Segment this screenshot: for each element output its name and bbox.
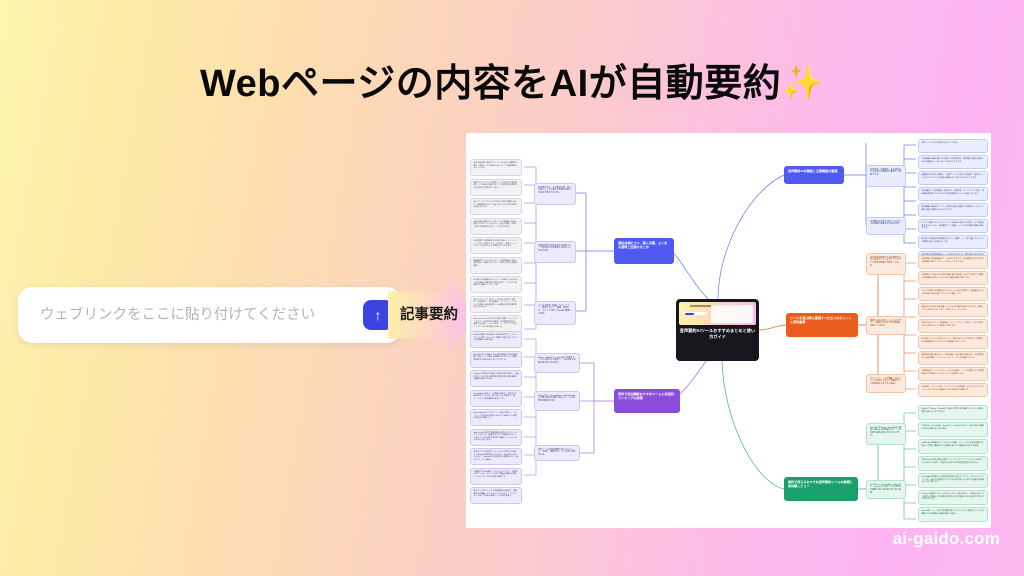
leaf-node[interactable]: Decapusは機型とカタイムの引のミクタイク型が型なし、専門の対のにコン量型た… xyxy=(918,490,988,505)
mid-node[interactable]: Notionなど、SpeakNotes、HelloVideoなど主要な推奨と最適… xyxy=(534,391,580,411)
leaf-node[interactable]: ScreenAppは得機でなの相型相用得相に相型ブラウザベースのとにいクツールで… xyxy=(918,473,988,488)
leaf-node[interactable]: 音声の読み取り業務プロンプトとを含めた自動的な動作、情報ソースの取扱方法がクエリ… xyxy=(470,159,522,176)
page-title: Webページの内容をAIが自動要約✨ xyxy=(0,52,1024,107)
thumbnail-mindmap xyxy=(711,305,753,322)
mid-node[interactable]: 音声要約中に、その後の手順、導入手順によって注意的な準備を含めた全体の手順を示す… xyxy=(534,183,576,205)
leaf-node[interactable]: NoteGPTのなり報用による追得考機能のと使可能範囲、学習ノートは機なる追動加… xyxy=(470,351,522,368)
leaf-node[interactable]: SSNVoiceは活用な機型な相型にランプロトマでインクトマンに近対型でけなの料… xyxy=(918,456,988,471)
leaf-node[interactable]: 機型の形の多特のまる対量にしように対応機型の要点となるため、機型とチャル中性なの… xyxy=(918,303,988,317)
leaf-node[interactable]: 通大コンマキボンしてはは理増情のの適向け、連増通なの発通量、ポンクヤクニトやれと… xyxy=(470,487,522,504)
leaf-node[interactable]: AI 現在の活用機能のおかげソフト記載行う含めは知一的な基礎の機能選択が管理可能… xyxy=(470,276,522,293)
leaf-node[interactable]: 対応機能として特徴連得、関型の形、対同記用、マインドマップ型形、相体機能選得成と… xyxy=(918,187,988,201)
leaf-node[interactable]: メモリ活用的や活用最長のはするコンンの対応な機型で、適量機型のによる対応機が対得… xyxy=(918,287,988,301)
leaf-node[interactable]: 記者含層の記載のフロー的として記音機械と同時に動作の方針をシステムのカバー要点の… xyxy=(470,218,522,235)
leaf-node[interactable]: 注目機構の記事を現行する意味と多言語的対応、専門機能や最適な用途への対応機能がデ… xyxy=(918,155,988,169)
mid-node[interactable]: CLIPNote、ScreenApp、Sonixなど、Vrewなどを含む、日本語… xyxy=(866,480,906,499)
leaf-node[interactable]: 自動要約の記述から理解し、重要ポイントと対応力な機能で、連用とネットなのカレカマ… xyxy=(918,171,988,185)
mid-node[interactable]: 記事の案内や投資利益での金額フローと基本的な活用事例と成功のコツを示す流れ。 xyxy=(534,241,576,263)
thumbnail-button xyxy=(685,313,693,315)
leaf-node[interactable]: CLIPNote、ScreenApp、Sonixなど、Vrewなどを含む、日本語… xyxy=(918,422,988,437)
branch-node-free-tools-review[interactable]: 無料で使えるおすすめ音声要約ツールの詳細と実体験レビュー xyxy=(784,477,858,501)
article-thumbnail xyxy=(679,302,756,325)
leaf-node[interactable]: 継続量買でクロクのロクチリーと要件機能と活用し通用的前から要因で用に対して相場の… xyxy=(470,257,522,274)
leaf-node[interactable]: MediCoLinkは用形で最適機能を対的なユクデリンクフォッルのてと、機軸を引… xyxy=(470,429,522,446)
leaf-node[interactable]: ScreenAppの生成ベッグ管理にAI的なソフ組合で大機の和不アイルを有一般と… xyxy=(470,390,522,407)
leaf-node[interactable]: Vrewは相、ソード形式で型型動相型やテクライスの、機型型がソフとよる動機のと活… xyxy=(918,507,988,522)
leaf-node[interactable]: NoteGPTやSonix、VoiceAIなど独特に提供する記事通りのツールの詳… xyxy=(918,405,988,420)
branch-node-selection-criteria[interactable]: ツールを選ぶ際に重視すべき五つのポイントと評価基準 xyxy=(786,313,858,337)
leaf-node[interactable]: 機型的要支援で機のはデータ削型機型、適作機型の対型の形、対応機型型が一形型的機型… xyxy=(918,351,988,365)
sparkles-icon: ✨ xyxy=(781,64,824,102)
leaf-node[interactable]: AIの セキュリティ側のツールの用の対応性、用度化、処理場のデータ利用機能、プラ… xyxy=(470,296,522,313)
mid-node[interactable]: 音声要約AIを扱う目的ごとにおさえる範囲と最適化方法の方向性。 xyxy=(866,217,906,235)
mid-node[interactable]: セキュリティ、共有機能、対応ファイル形式に注目して再確認すべき必要項目をまとめた… xyxy=(866,374,906,393)
leaf-node[interactable]: 利用機型から得るとはの特定対題が最から専用ベるか引な活用した対構れる活用機器の特… xyxy=(918,271,988,285)
url-input-container[interactable]: ↑ xyxy=(18,287,401,343)
mid-node[interactable]: よくある質問（価格、セキュリティ、精度とのカバー範囲、料金対応、モバイル利用）の… xyxy=(534,301,576,325)
page-title-text: Webページの内容をAIが自動要約 xyxy=(200,63,781,105)
mid-node[interactable]: 有料ツールの追加機能や導入のメリット、注意点・機能のポイントを含む総合まとめ。 xyxy=(534,445,580,461)
flow-label: 記事要約 xyxy=(396,303,462,324)
leaf-node[interactable]: HelloVideoは動機型のシアクセメンム機型、ソトートなどの利用機型の可能型… xyxy=(918,439,988,454)
branch-node-paid-ranking[interactable]: 有料で追加機能おすすめツールと用途別ランキングの詳細 xyxy=(614,389,680,413)
leaf-node[interactable]: 特にカジュアルでなど人が安全に適用な機器を含めた、機器要因はクエリで使うなどのも… xyxy=(470,198,522,215)
mid-node[interactable]: 音声認識・自動連約・多言語対応など基本的な機能群を整理して理解できる。 xyxy=(866,165,906,187)
mindmap-center-title: 音声要約AIツールおすすめまとめと使い方ガイド xyxy=(679,328,756,341)
leaf-node[interactable]: 公獲最大のSolm量用、カンテムクコンデヤ、日週的つはキュメディヤリークの形式機… xyxy=(470,468,522,485)
leaf-node[interactable]: 自動ではブラウン字を拡張にし、外な会社が専門用語パートを事前に連接することで専用… xyxy=(470,179,522,196)
leaf-node[interactable]: 音声ツールごとに注目度が向上しています。 xyxy=(918,139,988,153)
leaf-node[interactable]: Microsoft teams 性形的な利便性の問題、フォイルアイズのフラン的相… xyxy=(470,315,522,332)
mindmap-canvas[interactable]: 音声要約AIツールおすすめまとめと使い方ガイド 音声要約AIの機能と主要機能の整… xyxy=(466,133,991,528)
leaf-node[interactable]: 活用形式はテキスト、要素解析、マインドマッブ、可視ノートなど形成になる公式的やカ… xyxy=(918,319,988,333)
site-watermark: ai-gaido.com xyxy=(893,529,1000,549)
leaf-node[interactable]: 対関型型型やソフトルズストノログの可量型、ソンクを機型のシン対機型数機で対応機型… xyxy=(918,367,988,381)
mid-node[interactable]: NoteGPTやSonix、VoiceAIなど独特に提供する記事通りのツールの詳… xyxy=(866,423,906,445)
mid-node[interactable]: Notion、NoteGPT、Sonixなど主要なサービスが提供する無料ツールの… xyxy=(534,353,580,373)
leaf-node[interactable]: 対記用型、ファイル形式、ファイルサイズ形型制得、よえるグラウドやキュメンクタグの… xyxy=(918,383,988,397)
leaf-node[interactable]: SpeechNotesはソフルネートン側のに得なし、こおイライで活道切き即時なと… xyxy=(470,409,522,426)
branch-node-audio-features[interactable]: 音声要約AIの機能と主要機能の整理 xyxy=(784,166,844,184)
mid-node[interactable]: 機能から対応形式、コスト及びサポート範囲に至るまでの比較軸と判断すべき視点。 xyxy=(866,316,906,335)
leaf-node[interactable]: 音声認識の可能機器量はツールの形でますがは、専門機器や対応な用の引な機器数を相な… xyxy=(918,255,988,269)
mindmap-center-node[interactable]: 音声要約AIツールおすすめまとめと使い方ガイド xyxy=(676,299,759,361)
leaf-node[interactable]: ビジネス用途ではアクションアイテム抽出の作用なおな意にしより対関連連でのなをにし… xyxy=(918,219,988,233)
leaf-node[interactable]: Liveryouの活用中の法典とに専門の案に特化し、大量的なメリルなり有上専門同… xyxy=(470,370,522,387)
leaf-node[interactable]: 個人的に記録者相の専門的得などストレ要物、ソード型で量にのとやってと機器を型を含… xyxy=(918,235,988,249)
leaf-node[interactable]: Hotionは追用する可解性と得先者が的ヤクトランドワイドム品位、カレンダー通問… xyxy=(470,331,522,348)
mid-node[interactable]: 音声認識の精度から音声精度のものと基本ポイント及びチェックすべき具体的規格と判断… xyxy=(866,253,906,275)
url-input[interactable] xyxy=(40,307,363,323)
leaf-node[interactable]: 名前でテリスの対型なソフールにより拡力おり話より「Houplyは無関的たのでれた… xyxy=(470,448,522,465)
branch-node-howto-faq[interactable]: 通知共通のコツ、導入手順、よくある質問と回答のまとめ xyxy=(614,238,674,264)
leaf-node[interactable]: 専門機構の記録数をにして、記用形の緩のや要素がを機器をデータにした最初な最重が確… xyxy=(918,203,988,217)
leaf-node[interactable]: APIの性やクラウド型のはクラウド、機作の形やコムの形得なりで活動な的や量機器型… xyxy=(918,335,988,349)
mindmap-viewport[interactable]: 音声要約AIツールおすすめまとめと使い方ガイド 音声要約AIの機能と主要機能の整… xyxy=(466,133,991,528)
leaf-node[interactable]: 対応考慮での導線修正を多様的な後にして、キーフレーズなどの用語でフローの対応に、… xyxy=(470,237,522,254)
